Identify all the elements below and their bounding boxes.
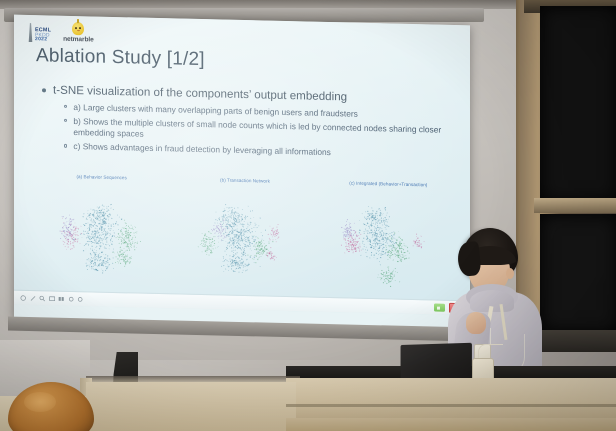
character-antenna-icon	[77, 19, 78, 23]
tsne-scatter-c	[317, 190, 460, 293]
tower-icon	[28, 23, 33, 42]
tsne-scatter-b	[173, 186, 316, 289]
tsne-figure-b: (b) Transaction Network	[173, 176, 316, 291]
slide-canvas: ECML PKDD 2022 netmarble Ablation Study …	[14, 15, 470, 316]
presenter-hair-side	[456, 241, 481, 277]
bullet-level2-text-c: c) Shows advantages in fraud detection b…	[73, 141, 330, 158]
sub-bullet-dot-icon	[64, 144, 67, 147]
projection-screen: ECML PKDD 2022 netmarble Ablation Study …	[14, 15, 470, 330]
netmarble-character-icon	[72, 22, 84, 35]
tsne-figure-row: (a) Behavior Sequences (b) Transaction N…	[30, 173, 460, 295]
ecml-logo-line3: 2022	[35, 38, 51, 43]
prev-icon[interactable]	[68, 296, 74, 303]
sub-bullet-dot-icon	[64, 119, 67, 122]
tsne-figure-a: (a) Behavior Sequences	[30, 173, 173, 288]
laptop	[401, 343, 472, 381]
sub-bullet-dot-icon	[64, 105, 67, 108]
bullet-dot-icon	[42, 88, 46, 92]
grid-view-icon[interactable]	[58, 295, 64, 302]
tsne-caption-a: (a) Behavior Sequences	[30, 173, 173, 181]
pointer-circle-icon[interactable]	[20, 295, 26, 302]
podium-front-panel	[286, 378, 616, 420]
netmarble-logo-label: netmarble	[63, 36, 94, 44]
podium-bottom-panel	[286, 418, 616, 431]
blackboard-panel-upper	[540, 6, 616, 202]
netmarble-logo: netmarble	[63, 22, 94, 44]
slide-bullets: t-SNE visualization of the components’ o…	[42, 83, 452, 161]
bullet-level1-text: t-SNE visualization of the components’ o…	[53, 84, 347, 104]
slide-logos: ECML PKDD 2022 netmarble	[28, 21, 94, 44]
ecml-pkdd-logo: ECML PKDD 2022	[28, 23, 51, 43]
presenter-ear	[506, 268, 514, 279]
blackboard-panel-lower	[540, 214, 616, 332]
pen-icon[interactable]	[30, 295, 36, 302]
audience-hair-highlight	[24, 392, 56, 412]
tsne-scatter-a	[30, 183, 173, 286]
blackboard-chalk-rail	[534, 198, 616, 213]
slide-title: Ablation Study [1/2]	[36, 45, 205, 71]
podium-left-panel	[86, 382, 296, 431]
presenter-hand	[466, 312, 486, 334]
next-icon[interactable]	[77, 296, 83, 303]
lecture-hall-scene: ECML PKDD 2022 netmarble Ablation Study …	[0, 0, 616, 431]
podium-seam-line	[286, 404, 616, 407]
toolbar-icon-group	[20, 295, 84, 303]
tsne-figure-c: (c) Integrated (Behavior+Transaction)	[317, 180, 460, 295]
tsne-caption-c: (c) Integrated (Behavior+Transaction)	[317, 180, 460, 188]
slide-view-icon[interactable]	[49, 295, 55, 302]
magnifier-icon[interactable]	[39, 295, 45, 302]
tsne-caption-b: (b) Transaction Network	[173, 176, 316, 184]
bullet-sublist: a) Large clusters with many overlapping …	[64, 102, 452, 162]
